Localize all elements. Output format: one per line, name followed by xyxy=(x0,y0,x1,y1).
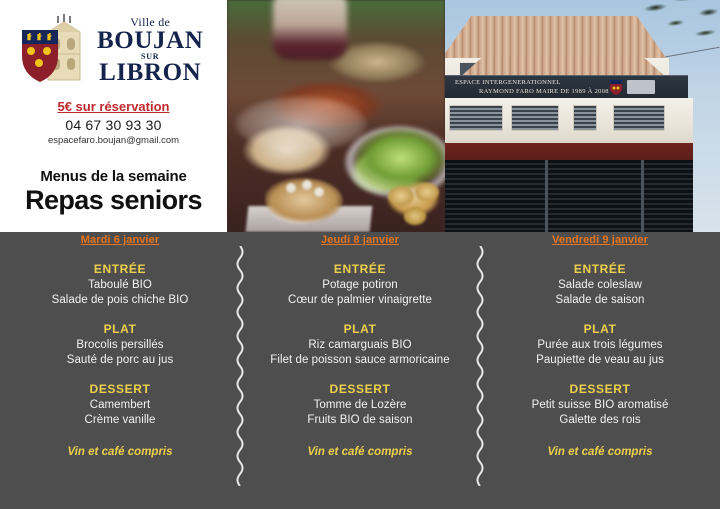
course-item: Camembert xyxy=(0,399,240,411)
town-logo: Ville de BOUJAN SUR LIBRON xyxy=(18,12,210,88)
included-note: Vin et café compris xyxy=(240,446,480,458)
menu-poster: Ville de BOUJAN SUR LIBRON 5€ sur réserv… xyxy=(0,0,720,509)
louver-window-1 xyxy=(449,105,503,131)
sign-line-2: RAYMOND FARO MAIRE DE 1989 À 2008 xyxy=(479,88,609,95)
course-title: PLAT xyxy=(240,322,480,336)
menu-column-jeudi: Jeudi 8 janvier ENTRÉE Potage potiron Cœ… xyxy=(240,232,480,509)
mozzarella-blur xyxy=(283,180,327,202)
logo-line-boujan: BOUJAN xyxy=(97,29,203,53)
logo-line-ville: Ville de xyxy=(130,16,170,28)
louver-window-3 xyxy=(573,105,597,131)
course-item: Salade coleslaw xyxy=(480,279,720,291)
course-title: PLAT xyxy=(0,322,240,336)
course-dessert: DESSERT Camembert Crème vanille xyxy=(0,382,240,426)
course-item: Filet de poisson sauce armoricaine xyxy=(240,354,480,366)
louver-window-4 xyxy=(613,105,665,131)
menu-column-mardi: Mardi 6 janvier ENTRÉE Taboulé BIO Salad… xyxy=(0,232,240,509)
menu-day-label: Mardi 6 janvier xyxy=(0,234,240,246)
sign-line-1: ESPACE INTERGENERATIONNEL xyxy=(455,79,561,86)
course-dessert: DESSERT Petit suisse BIO aromatisé Galet… xyxy=(480,382,720,426)
plate-blur xyxy=(235,96,367,152)
menu-day-label: Jeudi 8 janvier xyxy=(240,234,480,246)
course-item: Tomme de Lozère xyxy=(240,399,480,411)
included-note: Vin et café compris xyxy=(480,446,720,458)
reservation-price: 5€ sur réservation xyxy=(57,99,169,114)
menu-column-vendredi: Vendredi 9 janvier ENTRÉE Salade colesla… xyxy=(480,232,720,509)
course-title: ENTRÉE xyxy=(480,262,720,276)
course-title: DESSERT xyxy=(0,382,240,396)
course-plat: PLAT Purée aux trois légumes Paupiette d… xyxy=(480,322,720,366)
course-title: DESSERT xyxy=(240,382,480,396)
building-sign: ESPACE INTERGENERATIONNEL RAYMOND FARO M… xyxy=(445,75,688,98)
menu-day-label: Vendredi 9 janvier xyxy=(480,234,720,246)
garage-divider-1 xyxy=(545,160,548,232)
subtitle: Menus de la semaine xyxy=(0,168,227,185)
course-title: ENTRÉE xyxy=(0,262,240,276)
course-dessert: DESSERT Tomme de Lozère Fruits BIO de sa… xyxy=(240,382,480,426)
page-title: Repas seniors xyxy=(0,186,227,215)
food-photo xyxy=(227,0,445,232)
course-plat: PLAT Riz camarguais BIO Filet de poisson… xyxy=(240,322,480,366)
salad-greens-blur xyxy=(355,128,445,188)
course-item: Sauté de porc au jus xyxy=(0,354,240,366)
town-logo-text: Ville de BOUJAN SUR LIBRON xyxy=(97,16,203,85)
course-item: Taboulé BIO xyxy=(0,279,240,291)
header-band: Ville de BOUJAN SUR LIBRON 5€ sur réserv… xyxy=(0,0,720,232)
contact-email[interactable]: espacefaro.boujan@gmail.com xyxy=(0,135,227,146)
course-item: Petit suisse BIO aromatisé xyxy=(480,399,720,411)
louver-window-2 xyxy=(511,105,559,131)
course-item: Salade de saison xyxy=(480,294,720,306)
course-item: Galette des rois xyxy=(480,414,720,426)
logo-line-libron: LIBRON xyxy=(99,61,201,85)
sign-crest-icon xyxy=(610,80,622,95)
wine-glass-blur xyxy=(273,0,347,60)
sign-town-logo xyxy=(627,80,655,94)
course-entree: ENTRÉE Taboulé BIO Salade de pois chiche… xyxy=(0,262,240,306)
course-plat: PLAT Brocolis persillés Sauté de porc au… xyxy=(0,322,240,366)
course-item: Paupiette de veau au jus xyxy=(480,354,720,366)
course-item: Purée aux trois légumes xyxy=(480,339,720,351)
course-entree: ENTRÉE Potage potiron Cœur de palmier vi… xyxy=(240,262,480,306)
building-photo: ESPACE INTERGENERATIONNEL RAYMOND FARO M… xyxy=(445,0,720,232)
title-block: Menus de la semaine Repas seniors xyxy=(0,168,227,215)
course-item: Crème vanille xyxy=(0,414,240,426)
course-item: Riz camarguais BIO xyxy=(240,339,480,351)
course-item: Fruits BIO de saison xyxy=(240,414,480,426)
course-title: PLAT xyxy=(480,322,720,336)
course-title: DESSERT xyxy=(480,382,720,396)
course-item: Cœur de palmier vinaigrette xyxy=(240,294,480,306)
contact-phone[interactable]: 04 67 30 93 30 xyxy=(0,117,227,133)
included-note: Vin et café compris xyxy=(0,446,240,458)
course-title: ENTRÉE xyxy=(240,262,480,276)
tree-branch xyxy=(634,0,720,66)
contact-block: 5€ sur réservation 04 67 30 93 30 espace… xyxy=(0,98,227,146)
potatoes-blur xyxy=(385,182,445,228)
crest-tower-icon xyxy=(18,14,92,86)
menu-band: Mardi 6 janvier ENTRÉE Taboulé BIO Salad… xyxy=(0,232,720,509)
roof-upper xyxy=(445,16,669,62)
course-item: Potage potiron xyxy=(240,279,480,291)
course-entree: ENTRÉE Salade coleslaw Salade de saison xyxy=(480,262,720,306)
course-item: Salade de pois chiche BIO xyxy=(0,294,240,306)
info-panel: Ville de BOUJAN SUR LIBRON 5€ sur réserv… xyxy=(0,0,227,232)
garage-divider-2 xyxy=(641,160,644,232)
course-item: Brocolis persillés xyxy=(0,339,240,351)
garage-shutter xyxy=(445,160,693,232)
